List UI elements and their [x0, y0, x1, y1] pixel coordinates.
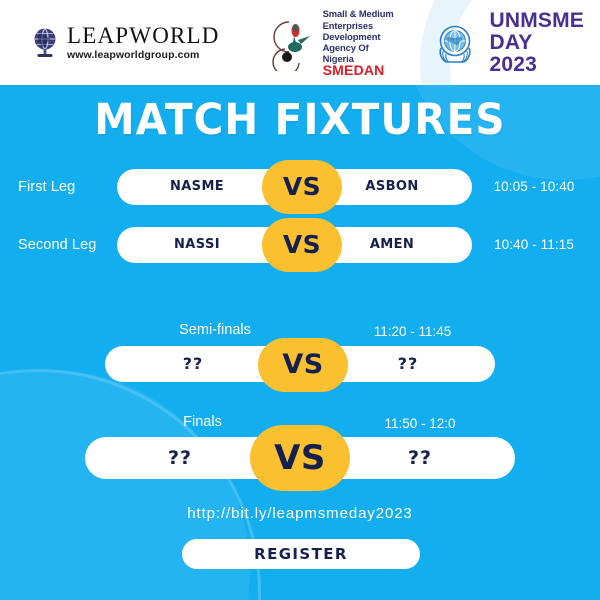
fixture-time-finals: 11:50 - 12:0	[330, 414, 510, 434]
page-title: MATCH FIXTURES	[18, 97, 582, 143]
fixture-label-first-leg: First Leg	[18, 166, 114, 208]
team-home-second-leg: NASSI	[117, 227, 277, 263]
registration-url[interactable]: http://bit.ly/leapmsmeday2023	[0, 505, 600, 522]
leapworld-name: LEAPWORLD	[67, 24, 220, 47]
fixture-row-first-leg: First Leg NASME VS ASBON 10:05 - 10:40	[0, 166, 600, 208]
team-home-first-leg: NASME	[117, 169, 277, 205]
sponsor-header-bar: LEAPWORLD www.leapworldgroup.com	[0, 0, 600, 85]
smedan-line-3: Development	[323, 31, 381, 42]
globe-icon	[30, 26, 60, 60]
united-nations-emblem-icon	[430, 18, 480, 68]
smedan-text-block: Small & Medium Enterprises Development A…	[323, 8, 395, 76]
fixture-row-second-leg: Second Leg NASSI VS AMEN 10:40 - 11:15	[0, 224, 600, 266]
smedan-logo[interactable]: Small & Medium Enterprises Development A…	[265, 8, 395, 76]
smedan-logo-icon	[265, 15, 317, 71]
smedan-line-1: Small & Medium	[323, 8, 394, 19]
team-home-finals: ??	[85, 437, 275, 479]
unmsme-text-block: UNMSME DAY 2023	[489, 10, 584, 76]
fixture-time-semi-finals: 11:20 - 11:45	[330, 322, 495, 342]
team-away-finals: ??	[325, 437, 515, 479]
leapworld-logo[interactable]: LEAPWORLD www.leapworldgroup.com	[30, 24, 220, 61]
fixture-row-semi-finals: Semi-finals 11:20 - 11:45 ?? VS ??	[0, 320, 600, 386]
match-fixtures-poster: LEAPWORLD www.leapworldgroup.com	[0, 0, 600, 600]
team-away-semi-finals: ??	[320, 346, 496, 382]
fixture-row-finals: Finals 11:50 - 12:0 ?? VS ??	[0, 412, 600, 487]
fixture-label-second-leg: Second Leg	[18, 224, 114, 266]
fixture-time-second-leg: 10:40 - 11:15	[478, 224, 590, 266]
unmsme-logo[interactable]: UNMSME DAY 2023	[430, 10, 584, 76]
fixture-time-first-leg: 10:05 - 10:40	[478, 166, 590, 208]
smedan-line-4: Agency	[323, 42, 356, 53]
leapworld-url: www.leapworldgroup.com	[67, 50, 220, 61]
team-home-semi-finals: ??	[105, 346, 281, 382]
register-button[interactable]: REGISTER	[182, 539, 420, 569]
unmsme-line-2: DAY 2023	[489, 32, 584, 76]
unmsme-line-1: UNMSME	[489, 10, 584, 32]
fixture-label-semi-finals: Semi-finals	[105, 320, 325, 340]
team-away-first-leg: ASBON	[312, 169, 472, 205]
team-away-second-leg: AMEN	[312, 227, 472, 263]
smedan-acronym: SMEDAN	[323, 65, 395, 76]
smedan-line-2: Enterprises	[323, 20, 374, 31]
